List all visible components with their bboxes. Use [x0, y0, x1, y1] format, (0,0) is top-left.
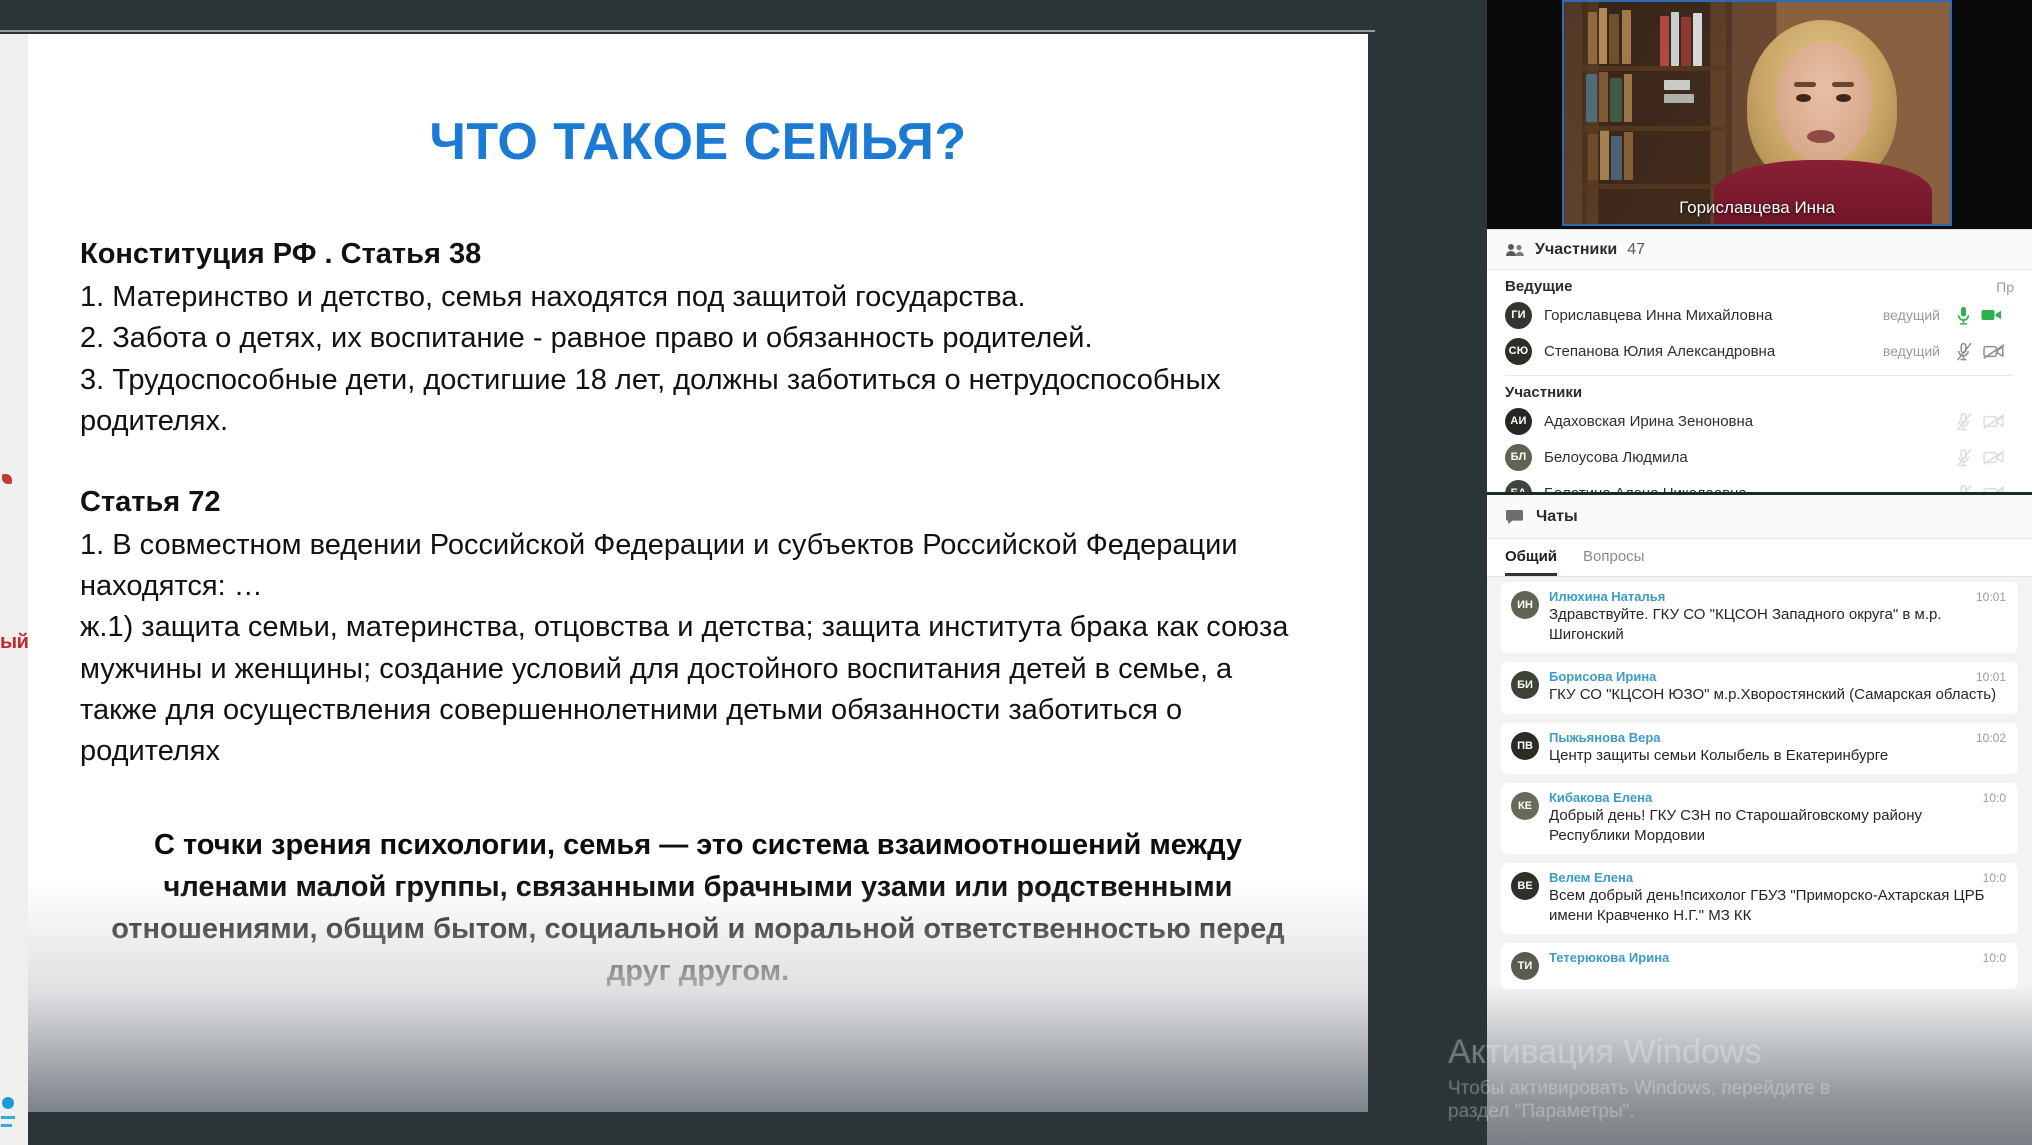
avatar: БА: [1505, 480, 1532, 493]
avatar: ИН: [1511, 591, 1539, 619]
slide-article38-item3: 3. Трудоспособные дети, достигшие 18 лет…: [80, 360, 1316, 442]
shared-screen-stage: ый ЧТО ТАКОЕ СЕМЬЯ? Конституция РФ . Ста…: [0, 0, 1375, 1145]
chat-message-author: Илюхина Наталья: [1549, 589, 1665, 604]
members-group-row: Участники: [1487, 376, 2032, 403]
chat-message[interactable]: ИНИлюхина Наталья10:01Здравствуйте. ГКУ …: [1501, 582, 2018, 653]
members-group-label: Участники: [1505, 384, 1582, 401]
participant-name: Гориславцева Инна Михайловна: [1544, 307, 1871, 324]
people-icon: [1505, 243, 1525, 257]
participant-row[interactable]: БЛБелоусова Людмила: [1487, 439, 2032, 475]
avatar: ПВ: [1511, 732, 1539, 760]
avatar: ТИ: [1511, 952, 1539, 980]
presentation-slide[interactable]: ЧТО ТАКОЕ СЕМЬЯ? Конституция РФ . Статья…: [28, 34, 1368, 1112]
chat-message-time: 10:01: [1976, 670, 2006, 684]
chat-message-author: Велем Елена: [1549, 870, 1633, 885]
avatar: БЛ: [1505, 444, 1532, 471]
chat-title: Чаты: [1536, 508, 1578, 526]
tab-obshchiy[interactable]: Общий: [1505, 539, 1557, 576]
chat-message-text: Всем добрый день!психолог ГБУЗ "Приморск…: [1549, 886, 2006, 925]
participant-role: ведущий: [1883, 307, 1940, 323]
participants-count: 47: [1627, 241, 1645, 259]
chat-message-time: 10:01: [1976, 590, 2006, 604]
slide-conclusion-text: С точки зрения психологии, семья — это с…: [80, 824, 1316, 992]
avatar: ГИ: [1505, 302, 1532, 329]
chat-message[interactable]: ВЕВелем Елена10:0Всем добрый день!психол…: [1501, 863, 2018, 934]
mic-off-icon[interactable]: [1956, 484, 1973, 493]
participant-row[interactable]: БАБолотина Алена Николаевна: [1487, 475, 2032, 492]
chat-message[interactable]: ТИТетерюкова Ирина10:0: [1501, 943, 2018, 989]
participants-panel: Участники 47 Ведущие Пр ГИ Гориславцева …: [1487, 229, 2032, 492]
meeting-sidebar: Гориславцева Инна Участники 47 Ведущие: [1487, 0, 2032, 1145]
chat-bubble-icon: [1505, 509, 1524, 525]
mic-off-icon[interactable]: [1956, 448, 1973, 467]
participant-name: Адаховская Ирина Зеноновна: [1544, 413, 1944, 430]
participant-name: Степанова Юлия Александровна: [1544, 343, 1871, 360]
chat-header[interactable]: Чаты: [1487, 495, 2032, 539]
participants-title: Участники: [1535, 241, 1617, 259]
stage-top-bar: [0, 0, 1375, 32]
chat-message-author: Тетерюкова Ирина: [1549, 950, 1669, 965]
participant-row[interactable]: АИАдаховская Ирина Зеноновна: [1487, 403, 2032, 439]
chat-message-author: Борисова Ирина: [1549, 669, 1656, 684]
slide-article38-item1: 1. Материнство и детство, семья находятс…: [80, 277, 1316, 318]
participant-row[interactable]: ГИ Гориславцева Инна Михайловна ведущий: [1487, 297, 2032, 333]
chat-message-author: Пыжьянова Вера: [1549, 730, 1660, 745]
camera-on-icon[interactable]: [1981, 308, 2002, 322]
slide-article38-item2: 2. Забота о детях, их воспитание - равно…: [80, 318, 1316, 359]
background-blue-dot-icon: [2, 1097, 14, 1109]
mic-on-icon[interactable]: [1956, 306, 1971, 325]
participant-role: ведущий: [1883, 343, 1940, 359]
mic-off-icon[interactable]: [1956, 412, 1973, 431]
slide-section-heading-38: Конституция РФ . Статья 38: [80, 234, 1316, 275]
chat-message[interactable]: ПВПыжьянова Вера10:02Центр защиты семьи …: [1501, 723, 2018, 775]
avatar: АИ: [1505, 408, 1532, 435]
chat-message-time: 10:02: [1976, 731, 2006, 745]
avatar: КЕ: [1511, 792, 1539, 820]
avatar: ВЕ: [1511, 872, 1539, 900]
slide-title: ЧТО ТАКОЕ СЕМЬЯ?: [80, 112, 1316, 172]
speaker-video-tile[interactable]: Гориславцева Инна: [1562, 0, 1952, 226]
chat-message-text: Здравствуйте. ГКУ СО "КЦСОН Западного ок…: [1549, 605, 2006, 644]
slide-body: Конституция РФ . Статья 38 1. Материнств…: [80, 234, 1316, 772]
background-blue-line-1: [1, 1116, 15, 1119]
meeting-screen: ый ЧТО ТАКОЕ СЕМЬЯ? Конституция РФ . Ста…: [0, 0, 2032, 1145]
participant-row[interactable]: СЮ Степанова Юлия Александровна ведущий: [1487, 333, 2032, 369]
background-blue-line-2: [1, 1124, 12, 1127]
slide-article72-item2: ж.1) защита семьи, материнства, отцовств…: [80, 607, 1316, 772]
chat-message-list[interactable]: ИНИлюхина Наталья10:01Здравствуйте. ГКУ …: [1487, 578, 2032, 1145]
camera-off-icon[interactable]: [1983, 344, 2005, 359]
tab-voprosy[interactable]: Вопросы: [1583, 539, 1644, 576]
slide-section-heading-72: Статья 72: [80, 482, 1316, 523]
chat-message[interactable]: БИБорисова Ирина10:01ГКУ СО "КЦСОН ЮЗО" …: [1501, 662, 2018, 714]
camera-off-icon[interactable]: [1983, 414, 2005, 429]
chat-message-time: 10:0: [1983, 791, 2006, 805]
speaker-mouth: [1807, 130, 1835, 143]
participant-name: Болотина Алена Николаевна: [1544, 485, 1944, 493]
chat-message-text: Центр защиты семьи Колыбель в Екатеринбу…: [1549, 746, 2006, 766]
camera-off-icon[interactable]: [1983, 450, 2005, 465]
chat-message-text: Добрый день! ГКУ СЗН по Старошайговскому…: [1549, 806, 2006, 845]
participants-list: АИАдаховская Ирина ЗеноновнаБЛБелоусова …: [1487, 403, 2032, 492]
hosts-group-label: Ведущие: [1505, 278, 1572, 295]
speaker-name-label: Гориславцева Инна: [1564, 198, 1950, 218]
chat-tabs: Общий Вопросы: [1487, 539, 2032, 577]
chat-message-time: 10:0: [1983, 951, 2006, 965]
background-red-marker-icon: [2, 474, 12, 484]
speaker-face: [1776, 42, 1872, 164]
chat-message[interactable]: КЕКибакова Елена10:0Добрый день! ГКУ СЗН…: [1501, 783, 2018, 854]
background-red-text-fragment: ый: [0, 631, 28, 654]
chat-panel: Чаты Общий Вопросы ИНИлюхина Наталья10:0…: [1487, 492, 2032, 1145]
slide-article72-item1: 1. В совместном ведении Российской Федер…: [80, 525, 1316, 607]
participants-header[interactable]: Участники 47: [1487, 230, 2032, 270]
hosts-group-row: Ведущие Пр: [1487, 270, 2032, 297]
avatar: СЮ: [1505, 338, 1532, 365]
background-presentation-window: ый: [0, 34, 28, 1145]
participant-name: Белоусова Людмила: [1544, 449, 1944, 466]
chat-message-author: Кибакова Елена: [1549, 790, 1652, 805]
hosts-column-header: Пр: [1996, 279, 2014, 295]
mic-off-icon[interactable]: [1956, 342, 1973, 361]
avatar: БИ: [1511, 671, 1539, 699]
chat-message-time: 10:0: [1983, 871, 2006, 885]
chat-message-text: ГКУ СО "КЦСОН ЮЗО" м.р.Хворостянский (Са…: [1549, 685, 2006, 705]
